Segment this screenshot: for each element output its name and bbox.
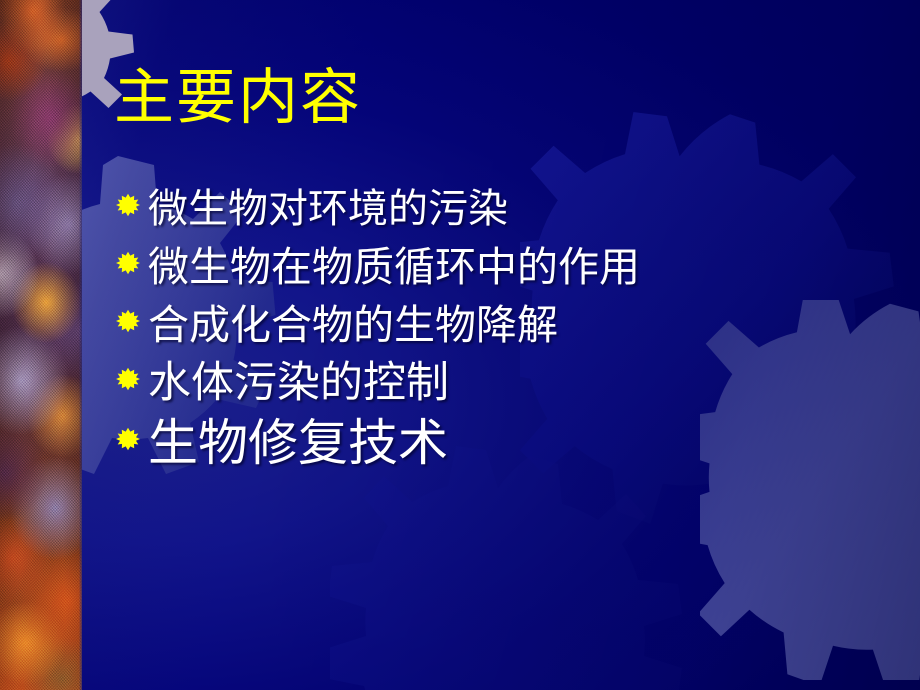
bullet-item: 水体污染的控制 (116, 350, 896, 408)
bullet-text: 微生物在物质循环中的作用 (148, 233, 640, 293)
yellow-star-bullet-icon (116, 193, 140, 217)
bullet-item: 生物修复技术 (116, 408, 896, 470)
yellow-star-bullet-icon (116, 427, 140, 451)
bullet-item: 合成化合物的生物降解 (116, 292, 896, 350)
strip-texture-grain-fine (0, 0, 82, 690)
yellow-star-bullet-icon (116, 309, 140, 333)
slide-title: 主要内容 (114, 68, 362, 128)
strip-right-edge (79, 0, 82, 690)
bullet-text: 微生物对环境的污染 (148, 176, 508, 234)
bullet-text: 合成化合物的生物降解 (148, 291, 558, 351)
bullet-item: 微生物在物质循环中的作用 (116, 234, 896, 292)
slide-canvas: 主要内容 微生物对环境的污染 微生物在物质循环中的作用 (0, 0, 920, 690)
yellow-star-bullet-icon (116, 251, 140, 275)
bullet-text: 水体污染的控制 (148, 348, 449, 410)
left-decorative-image-strip (0, 0, 82, 690)
bullet-list: 微生物对环境的污染 微生物在物质循环中的作用 合成化合物的生物降解 (116, 176, 896, 470)
bullet-item: 微生物对环境的污染 (116, 176, 896, 234)
yellow-star-bullet-icon (116, 367, 140, 391)
bullet-text: 生物修复技术 (148, 403, 448, 475)
